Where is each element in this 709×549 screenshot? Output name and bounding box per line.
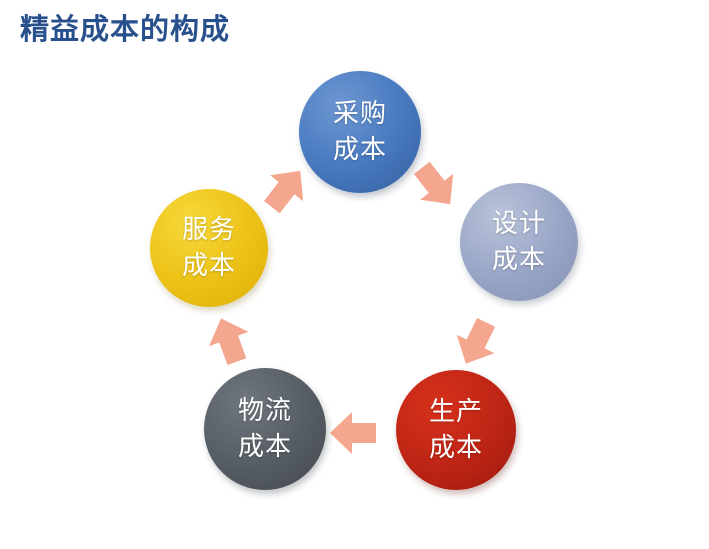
arrow-production-to-logistics xyxy=(326,406,380,460)
node-design-label-line2: 成本 xyxy=(492,242,546,278)
cycle-diagram: 采购 成本 设计 成本 生产 成本 物流 成本 服务 成本 xyxy=(0,55,709,500)
node-production-label-line2: 成本 xyxy=(429,430,483,466)
node-service-label-line1: 服务 xyxy=(182,212,236,248)
node-design-label-line1: 设计 xyxy=(492,206,546,242)
page-title: 精益成本的构成 xyxy=(20,12,230,46)
node-service-label-line2: 成本 xyxy=(182,248,236,284)
node-procurement-label-line1: 采购 xyxy=(333,96,387,132)
slide-canvas: 精益成本的构成 xyxy=(0,0,709,500)
node-production[interactable]: 生产 成本 xyxy=(396,370,516,490)
node-production-label-line1: 生产 xyxy=(429,394,483,430)
arrow-design-to-production xyxy=(440,307,512,379)
node-logistics-label-line1: 物流 xyxy=(238,393,292,429)
node-service[interactable]: 服务 成本 xyxy=(150,189,268,307)
node-logistics[interactable]: 物流 成本 xyxy=(204,368,326,490)
node-procurement[interactable]: 采购 成本 xyxy=(299,71,421,193)
arrow-logistics-to-service xyxy=(194,305,263,374)
node-logistics-label-line2: 成本 xyxy=(238,429,292,465)
node-design[interactable]: 设计 成本 xyxy=(460,183,578,301)
watermark-circle-icon xyxy=(491,513,527,549)
node-procurement-label-line2: 成本 xyxy=(333,132,387,168)
